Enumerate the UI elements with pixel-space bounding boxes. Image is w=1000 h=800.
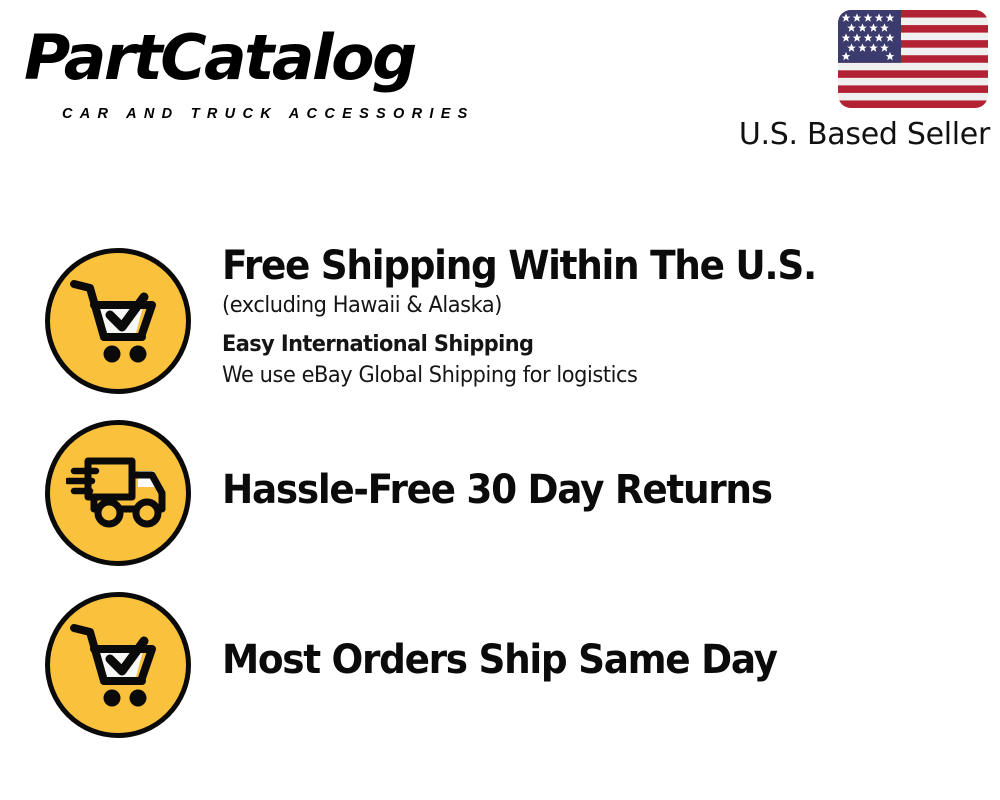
page-header: PartCatalog CAR AND TRUCK ACCESSORIES: [0, 0, 1000, 180]
feature-text-block: Free Shipping Within The U.S. (excluding…: [222, 242, 990, 391]
feature-row: Free Shipping Within The U.S. (excluding…: [0, 248, 1000, 408]
brand-logo[interactable]: PartCatalog CAR AND TRUCK ACCESSORIES: [24, 22, 494, 117]
feature-text-block: Hassle-Free 30 Day Returns: [222, 466, 990, 514]
feature-headline: Most Orders Ship Same Day: [222, 636, 940, 684]
brand-wordmark: PartCatalog: [24, 22, 415, 94]
brand-tagline: CAR AND TRUCK ACCESSORIES: [62, 106, 475, 122]
feature-subline: We use eBay Global Shipping for logistic…: [222, 360, 952, 391]
feature-subline: Easy International Shipping: [222, 329, 952, 360]
feature-headline: Free Shipping Within The U.S.: [222, 242, 940, 290]
feature-subline: (excluding Hawaii & Alaska): [222, 290, 952, 321]
shopping-cart-check-icon: [45, 248, 191, 394]
delivery-truck-icon: [45, 420, 191, 566]
us-based-seller-label: U.S. Based Seller: [739, 117, 990, 153]
feature-row: Most Orders Ship Same Day: [0, 592, 1000, 742]
feature-headline: Hassle-Free 30 Day Returns: [222, 466, 940, 514]
feature-row: Hassle-Free 30 Day Returns: [0, 420, 1000, 570]
feature-text-block: Most Orders Ship Same Day: [222, 636, 990, 684]
spacer: [222, 321, 990, 329]
us-flag-icon: [838, 10, 988, 108]
shopping-cart-check-icon: [45, 592, 191, 738]
